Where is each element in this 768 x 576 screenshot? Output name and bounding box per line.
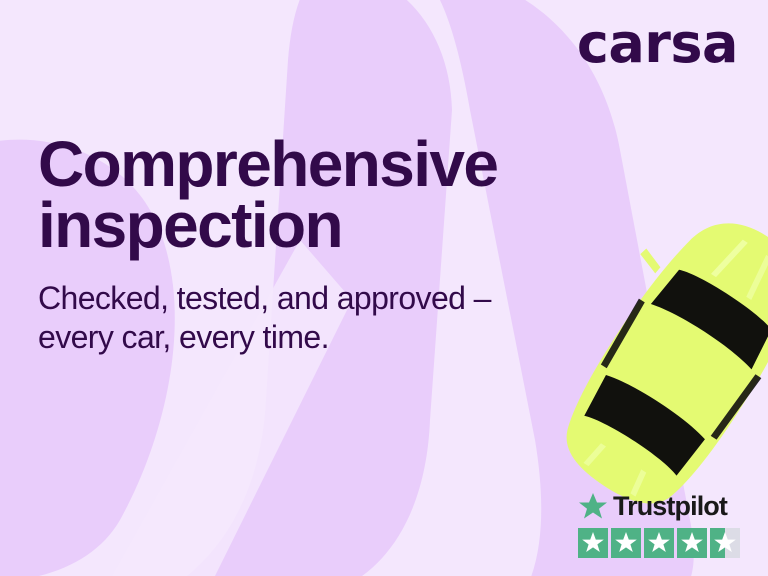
- car-trunk-highlight-1: [583, 441, 606, 468]
- car-hood-highlight-2: [741, 255, 768, 300]
- subheadline: Checked, tested, and approved –every car…: [38, 279, 538, 357]
- car-rear-window: [581, 370, 708, 478]
- car-mirror-left: [636, 247, 665, 273]
- trustpilot-star-icon: [578, 492, 608, 520]
- rating-star-4: [677, 528, 707, 558]
- rating-star-3: [644, 528, 674, 558]
- headline-line-2: inspection: [38, 189, 342, 261]
- car-windshield: [651, 262, 768, 369]
- copy-block: Comprehensive inspection Checked, tested…: [38, 134, 638, 357]
- promotional-banner: carsa Comprehensive inspection Checked, …: [0, 0, 768, 576]
- car-pillar-right: [711, 372, 762, 442]
- trustpilot-brand: Trustpilot: [578, 491, 746, 521]
- carsa-logo[interactable]: carsa: [577, 17, 738, 71]
- rating-star-5-half: [710, 528, 740, 558]
- car-hood-highlight-1: [711, 235, 748, 281]
- trustpilot-star-rating: [578, 528, 746, 558]
- rating-star-2: [611, 528, 641, 558]
- page-title: Comprehensive inspection: [38, 134, 638, 257]
- trustpilot-wordmark: Trustpilot: [613, 493, 727, 520]
- trustpilot-widget[interactable]: Trustpilot: [578, 491, 746, 558]
- rating-star-1: [578, 528, 608, 558]
